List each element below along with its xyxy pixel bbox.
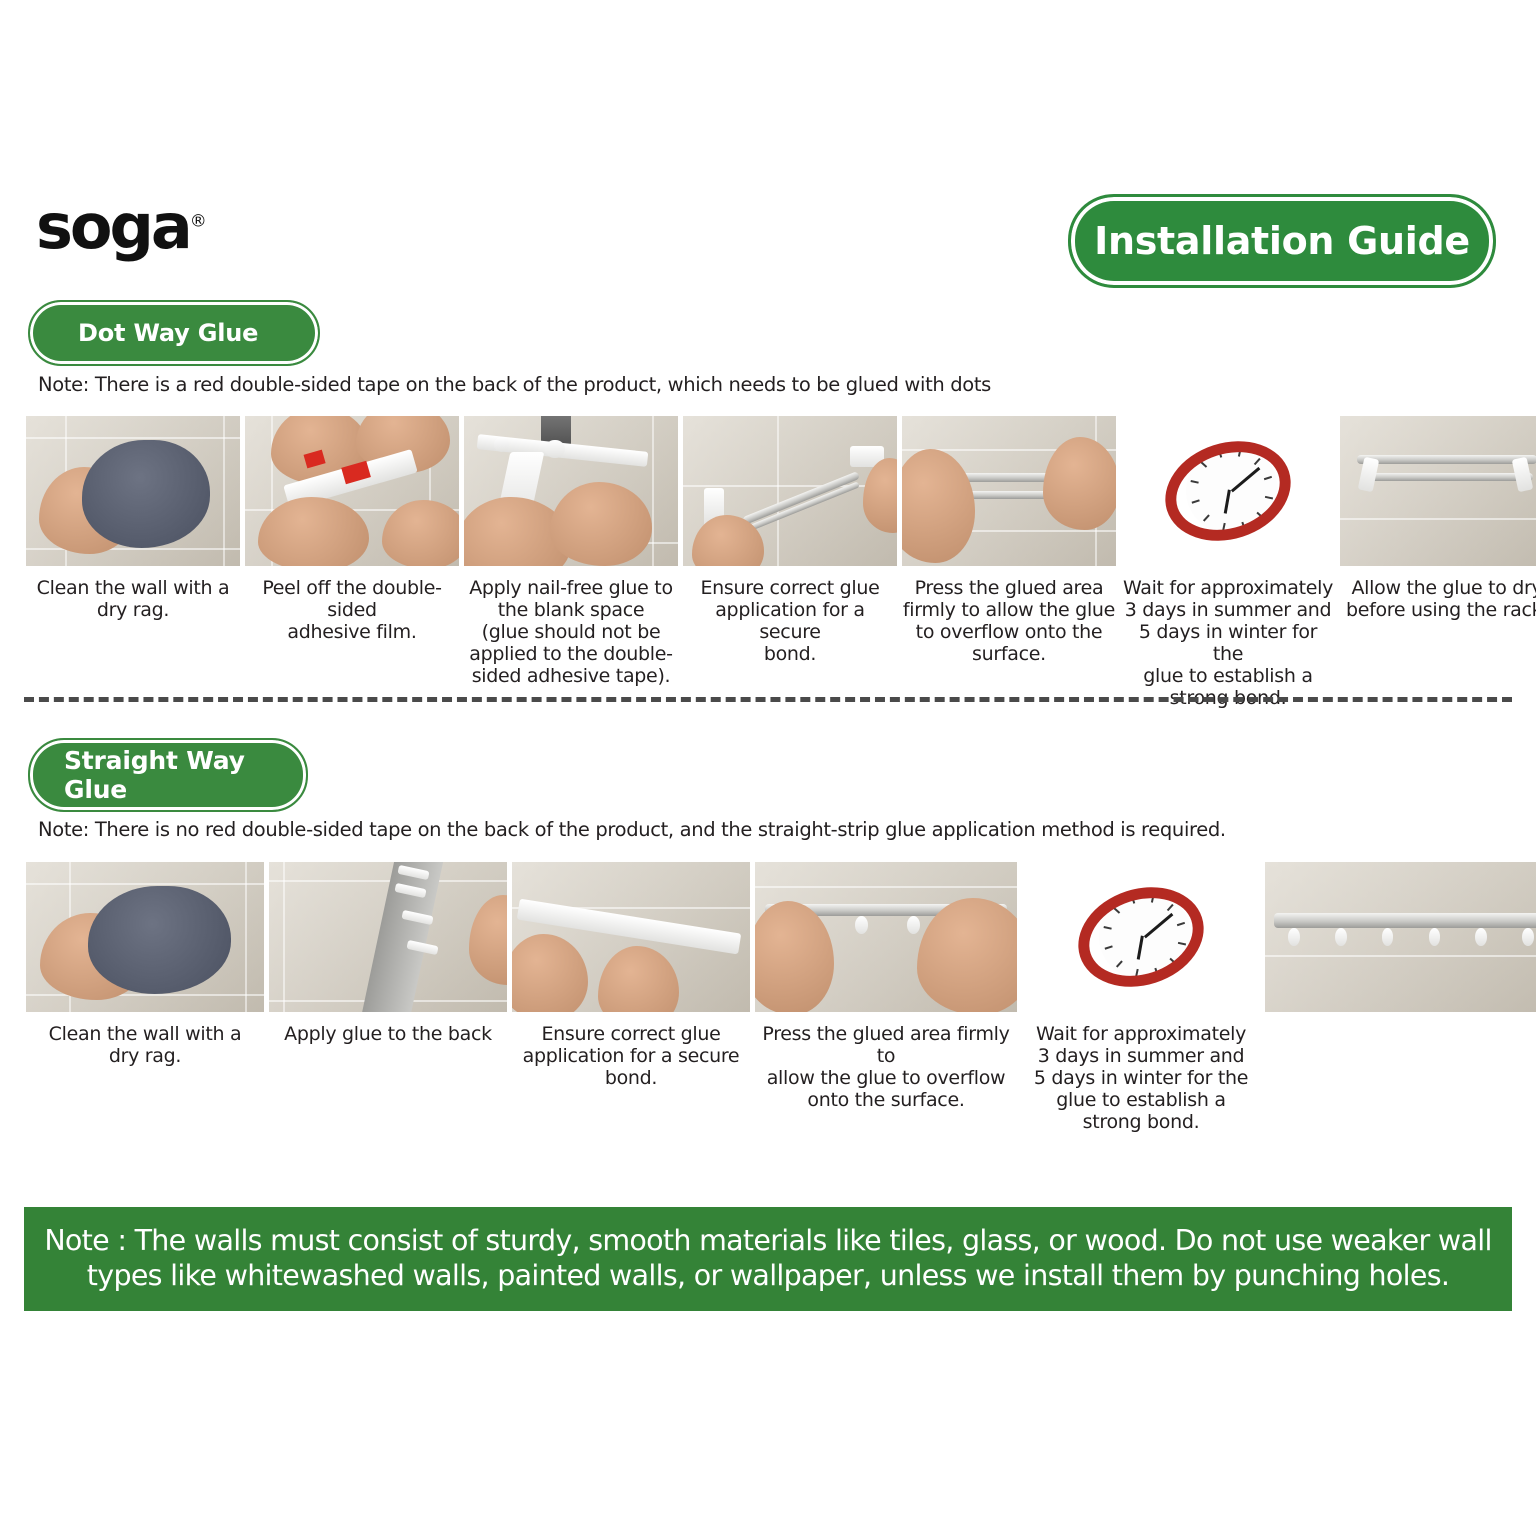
soga-logo: soga® bbox=[36, 196, 207, 258]
section-divider bbox=[24, 697, 1512, 702]
step-caption: Clean the wall with a dry rag. bbox=[37, 577, 230, 621]
installed-towel-rack-on-wall-photo bbox=[1340, 416, 1536, 566]
step-item: Clean the wall with a dry rag. bbox=[26, 416, 240, 709]
red-clock-icon bbox=[1121, 416, 1335, 566]
section-pill-dot-way-glue: Dot Way Glue bbox=[28, 300, 320, 366]
section-title-straight-way-glue: Straight Way Glue bbox=[64, 746, 306, 804]
steps-row-dot-way-glue: Clean the wall with a dry rag.Peel off t… bbox=[0, 416, 1536, 709]
step-caption: Press the glued area firmly to allow the… bbox=[755, 1023, 1017, 1111]
step-item: Clean the wall with a dry rag. bbox=[26, 862, 264, 1133]
glue-strips-applied-to-back-of-rail-photo bbox=[269, 862, 507, 1012]
step-item: Press the glued area firmly to allow the… bbox=[755, 862, 1017, 1133]
step-caption: Apply nail-free glue to the blank space … bbox=[469, 577, 673, 687]
pressing-hook-rail-onto-wall-photo bbox=[755, 862, 1017, 1012]
hand-wiping-tile-with-rag-photo bbox=[26, 862, 264, 1012]
step-item: Apply glue to the back bbox=[269, 862, 507, 1133]
page-header: soga® Installation Guide bbox=[0, 186, 1536, 306]
hand-wiping-tile-with-rag-photo bbox=[26, 416, 240, 566]
red-clock-icon bbox=[1022, 862, 1260, 1012]
holding-towel-bar-against-wall-photo bbox=[683, 416, 897, 566]
installed-hook-rail-on-wall-photo bbox=[1265, 862, 1536, 1012]
applying-nail-free-glue-to-bracket-photo bbox=[464, 416, 678, 566]
step-caption: Ensure correct glue application for a se… bbox=[523, 1023, 740, 1089]
step-caption: Peel off the double-sided adhesive film. bbox=[245, 577, 459, 643]
footer-warning-banner: Note : The walls must consist of sturdy,… bbox=[24, 1207, 1512, 1311]
installation-guide-badge: Installation Guide bbox=[1068, 194, 1496, 288]
step-caption: Wait for approximately 3 days in summer … bbox=[1121, 577, 1335, 709]
step-caption: Apply glue to the back bbox=[284, 1023, 492, 1045]
step-item bbox=[1265, 862, 1536, 1133]
holding-glued-rail-photo bbox=[512, 862, 750, 1012]
step-caption: Clean the wall with a dry rag. bbox=[49, 1023, 242, 1067]
footer-warning-text: Note : The walls must consist of sturdy,… bbox=[38, 1224, 1498, 1294]
step-caption: Ensure correct glue application for a se… bbox=[683, 577, 897, 665]
step-item: Wait for approximately 3 days in summer … bbox=[1121, 416, 1335, 709]
step-caption: Allow the glue to dry before using the r… bbox=[1346, 577, 1536, 621]
installation-guide-label: Installation Guide bbox=[1094, 219, 1470, 263]
hands-peeling-double-sided-film-photo bbox=[245, 416, 459, 566]
section-title-dot-way-glue: Dot Way Glue bbox=[78, 319, 258, 347]
step-item: Allow the glue to dry before using the r… bbox=[1340, 416, 1536, 709]
registered-trademark-icon: ® bbox=[190, 211, 207, 231]
logo-wordmark: soga bbox=[36, 190, 190, 263]
step-caption: Press the glued area firmly to allow the… bbox=[903, 577, 1115, 665]
step-caption: Wait for approximately 3 days in summer … bbox=[1034, 1023, 1248, 1133]
note-dot-way-glue: Note: There is a red double-sided tape o… bbox=[38, 373, 991, 396]
note-straight-way-glue: Note: There is no red double-sided tape … bbox=[38, 818, 1226, 841]
step-item: Apply nail-free glue to the blank space … bbox=[464, 416, 678, 709]
section-pill-straight-way-glue: Straight Way Glue bbox=[28, 738, 308, 812]
step-item: Press the glued area firmly to allow the… bbox=[902, 416, 1116, 709]
step-item: Peel off the double-sided adhesive film. bbox=[245, 416, 459, 709]
step-item: Ensure correct glue application for a se… bbox=[512, 862, 750, 1133]
step-item: Ensure correct glue application for a se… bbox=[683, 416, 897, 709]
steps-row-straight-way-glue: Clean the wall with a dry rag.Apply glue… bbox=[0, 862, 1536, 1133]
pressing-towel-rack-onto-wall-photo bbox=[902, 416, 1116, 566]
step-item: Wait for approximately 3 days in summer … bbox=[1022, 862, 1260, 1133]
